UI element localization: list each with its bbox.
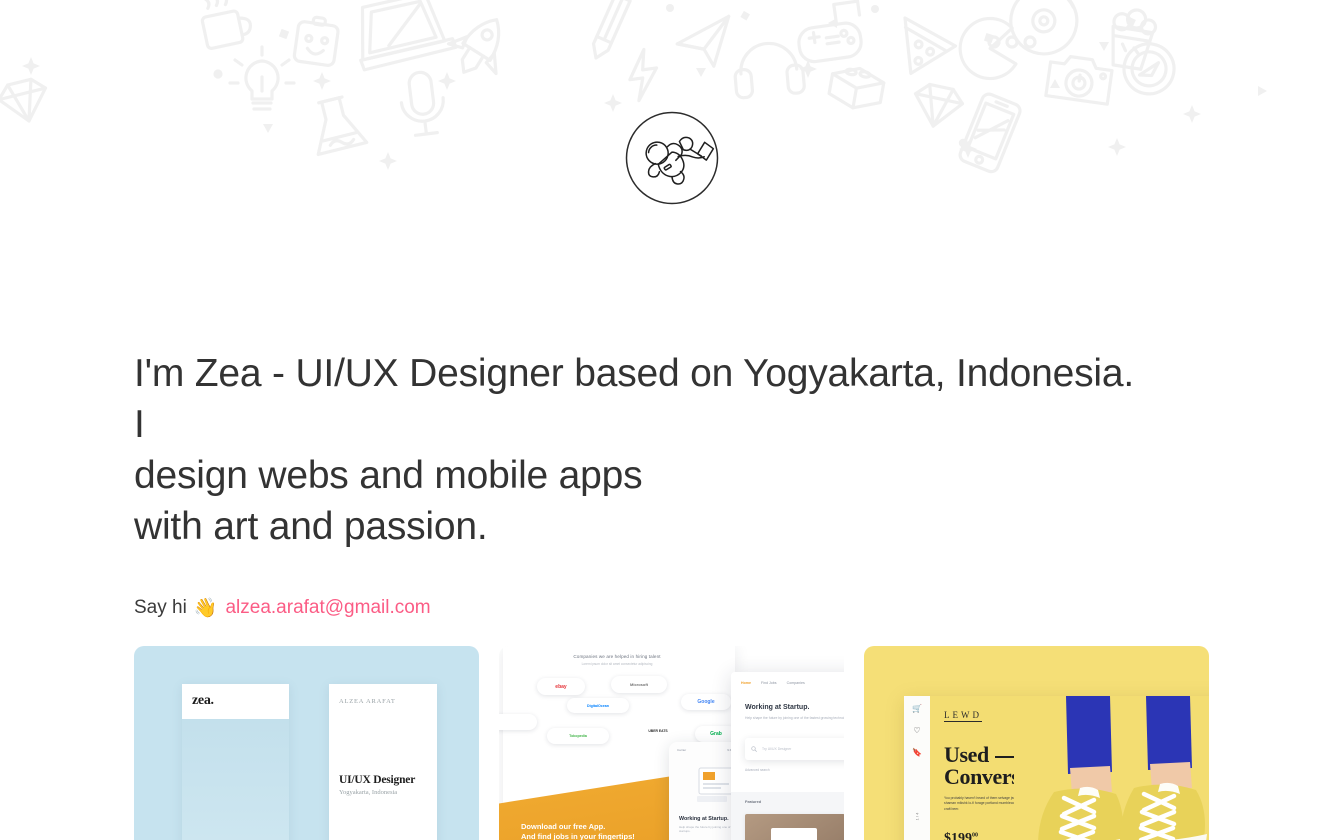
site-search-placeholder: Try UI/UX Designer <box>762 747 844 751</box>
nav-companies[interactable]: Companies <box>787 681 805 685</box>
pacman-icon <box>957 16 1017 81</box>
square-icon <box>1127 17 1136 26</box>
contact-row: Say hi 👋 alzea.arafat@gmail.com <box>134 595 1210 621</box>
dot-icon <box>1025 37 1035 47</box>
square-icon <box>984 33 994 43</box>
shop-price: $19900 <box>944 831 978 840</box>
camera-icon <box>1046 54 1113 104</box>
companies-header: Companies we are helped in hiring talent <box>517 654 717 659</box>
site-hero-sub: Help shape the future by joining one of … <box>745 716 844 721</box>
site-navbar: Home Find Jobs Companies Startupjobs Sig… <box>731 672 844 694</box>
page-title: I'm Zea - UI/UX Designer based on Yogyak… <box>134 348 1134 552</box>
paper-plane-icon <box>675 16 734 69</box>
cart-icon[interactable]: 🛒 <box>912 705 922 713</box>
dot-icon <box>871 5 879 13</box>
portfolio-page: I'm Zea - UI/UX Designer based on Yogyak… <box>0 0 1344 840</box>
gamepad-icon <box>794 1 865 63</box>
company-chip-digitalocean: DigitalOcean <box>567 698 629 713</box>
shop-brand: LEWD <box>944 710 982 722</box>
cd-disc-icon <box>1002 0 1085 62</box>
sneakers-photo <box>1014 696 1209 840</box>
card-person-name: ALZEA ARAFAT <box>339 698 396 705</box>
app-promo-title-2: And find jobs in your fingertips! <box>521 832 635 840</box>
astronaut-logo-icon <box>624 110 720 206</box>
app-promo-title: Download our free App. And find jobs in … <box>521 822 635 840</box>
flask-icon <box>306 94 367 155</box>
headline-line-1: I'm Zea - UI/UX Designer based on Yogyak… <box>134 348 1134 450</box>
shop-side-rail: 🛒 ♡ 🔖 1 / 4 <box>904 696 930 840</box>
card-photo <box>182 719 289 840</box>
company-chip-microsoft: Microsoft <box>611 676 667 693</box>
site-featured-section: Featured See More UI/UX Designer Front-e… <box>731 792 844 840</box>
popcorn-icon <box>1107 7 1158 71</box>
phone-icon <box>958 92 1022 174</box>
coffee-mug-icon <box>198 0 254 49</box>
company-chip-ubereats: UBER EATS <box>629 724 687 738</box>
project-grid: zea. ALZEA ARAFAT UI/UX De <box>134 646 1210 840</box>
dot-icon <box>666 4 674 12</box>
rocket-icon <box>440 5 520 87</box>
company-chip-google: Google <box>681 694 731 710</box>
compass-icon <box>1119 39 1178 98</box>
company-chip-tokopedia-blue <box>499 714 537 730</box>
phone-carrier: Carrier <box>677 748 686 752</box>
business-card-front: zea. <box>182 684 289 840</box>
shop-description: You probably haven't heard of them selva… <box>944 796 1022 812</box>
headline-line-2: design webs and mobile apps <box>134 450 1134 501</box>
company-chip-ebay: ebay <box>537 678 585 695</box>
nav-home[interactable]: Home <box>741 681 751 685</box>
pizza-icon <box>892 18 960 83</box>
hero-content: I'm Zea - UI/UX Designer based on Yogyak… <box>134 348 1210 621</box>
laptop-icon <box>352 0 457 70</box>
diamond-icon <box>910 82 965 131</box>
shop-pager: 1 / 4 <box>915 813 920 821</box>
say-hi-label: Say hi <box>134 595 187 621</box>
triangle-icon <box>263 124 273 133</box>
site-advanced-search[interactable]: Advanced search <box>745 768 770 772</box>
bookmark-icon[interactable]: 🔖 <box>912 749 922 757</box>
card-location: Yogyakarta, Indonesia <box>339 789 397 796</box>
companies-subheader: Lorem ipsum dolor sit amet consectetur a… <box>537 662 697 666</box>
search-icon <box>751 746 757 752</box>
shop-price-cents: 00 <box>972 832 978 838</box>
square-icon <box>740 11 750 21</box>
app-promo-title-1: Download our free App. <box>521 822 605 831</box>
phone-title: Working at Startup. <box>679 816 729 822</box>
triangle-icon <box>1258 86 1267 96</box>
diamond-icon <box>0 76 52 126</box>
pencil-icon <box>589 0 630 61</box>
lego-head-icon <box>294 15 340 66</box>
triangle-icon <box>1050 79 1060 88</box>
astronaut-logo[interactable] <box>624 110 720 206</box>
project-card-personal-branding[interactable]: zea. ALZEA ARAFAT UI/UX De <box>134 646 479 840</box>
project-card-lewd-shop[interactable]: 🛒 ♡ 🔖 1 / 4 LEWD Used Converse. You prob… <box>864 646 1209 840</box>
lightning-icon <box>626 48 661 101</box>
featured-tile-1[interactable]: UI/UX Designer <box>745 814 844 840</box>
star-icon <box>22 57 1201 170</box>
lego-brick-icon <box>827 64 885 112</box>
heart-icon[interactable]: ♡ <box>913 727 920 735</box>
nav-find-jobs[interactable]: Find Jobs <box>761 681 777 685</box>
dot-icon <box>989 37 999 47</box>
triangle-icon <box>696 68 706 77</box>
project-card-startup-jobs[interactable]: Companies we are helped in hiring talent… <box>499 646 844 840</box>
site-search-bar[interactable]: Try UI/UX Designer Search <box>745 738 844 760</box>
shop-page-mockup: 🛒 ♡ 🔖 1 / 4 LEWD Used Converse. You prob… <box>904 696 1209 840</box>
email-link[interactable]: alzea.arafat@gmail.com <box>225 595 430 621</box>
microphone-icon <box>398 70 447 137</box>
featured-label: Featured <box>745 800 761 804</box>
triangle-icon <box>828 18 837 28</box>
dot-icon <box>213 69 222 78</box>
triangle-icon <box>1099 42 1109 51</box>
lightbulb-icon <box>230 47 294 109</box>
company-chip-tokopedia: Tokopedia <box>547 728 609 744</box>
shop-price-amount: $199 <box>944 831 972 840</box>
dot-icon <box>1007 37 1017 47</box>
dot-icon <box>959 139 967 147</box>
site-hero-title: Working at Startup. <box>745 704 809 711</box>
business-card-back: ALZEA ARAFAT UI/UX Designer Yogyakarta, … <box>329 684 437 840</box>
site-hero: Working at Startup. Help shape the futur… <box>731 694 844 792</box>
headphones-icon <box>733 41 805 99</box>
card-role: UI/UX Designer <box>339 774 415 786</box>
tile-1-card <box>771 828 817 840</box>
jobs-website-mockup: Home Find Jobs Companies Startupjobs Sig… <box>731 672 844 840</box>
headline-line-3: with art and passion. <box>134 501 1134 552</box>
waving-hand-icon: 👋 <box>194 599 218 618</box>
zea-logo-text: zea. <box>192 693 214 709</box>
square-icon <box>279 29 289 39</box>
